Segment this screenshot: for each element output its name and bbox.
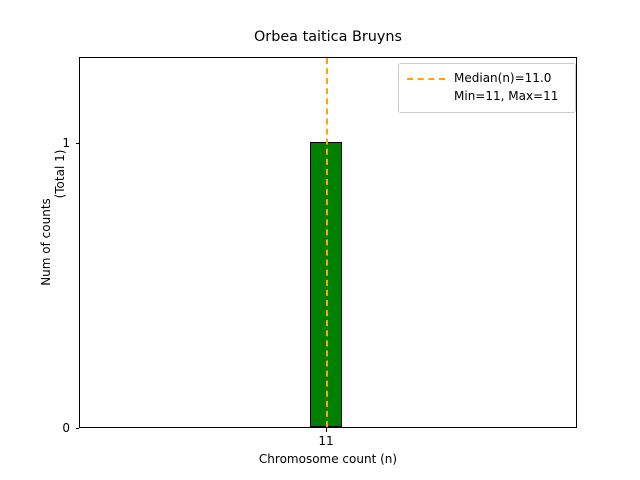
y-tick-label-0: 0	[10, 422, 70, 434]
plot-area	[79, 57, 577, 428]
y-axis-label-total: (Total 1)	[54, 74, 66, 274]
legend-item-minmax: Min=11, Max=11	[407, 88, 567, 106]
legend-label-minmax: Min=11, Max=11	[454, 89, 558, 104]
x-tick-mark-11	[326, 428, 327, 432]
x-axis-label: Chromosome count (n)	[79, 452, 577, 466]
legend: Median(n)=11.0 Min=11, Max=11	[398, 63, 576, 113]
legend-item-median: Median(n)=11.0	[407, 70, 567, 88]
legend-blank-sample-icon	[407, 96, 445, 98]
plot-inner	[80, 58, 576, 427]
legend-dash-sample-icon	[407, 78, 445, 80]
x-tick-label-11: 11	[286, 434, 366, 448]
y-axis-label: Num of counts	[40, 142, 52, 342]
y-tick-label-1: 1	[10, 137, 70, 149]
legend-label-median: Median(n)=11.0	[454, 71, 551, 86]
chart-figure: Orbea taitica Bruyns Num of counts (Tota…	[0, 0, 640, 480]
chart-title: Orbea taitica Bruyns	[79, 29, 577, 46]
median-line	[326, 58, 328, 427]
